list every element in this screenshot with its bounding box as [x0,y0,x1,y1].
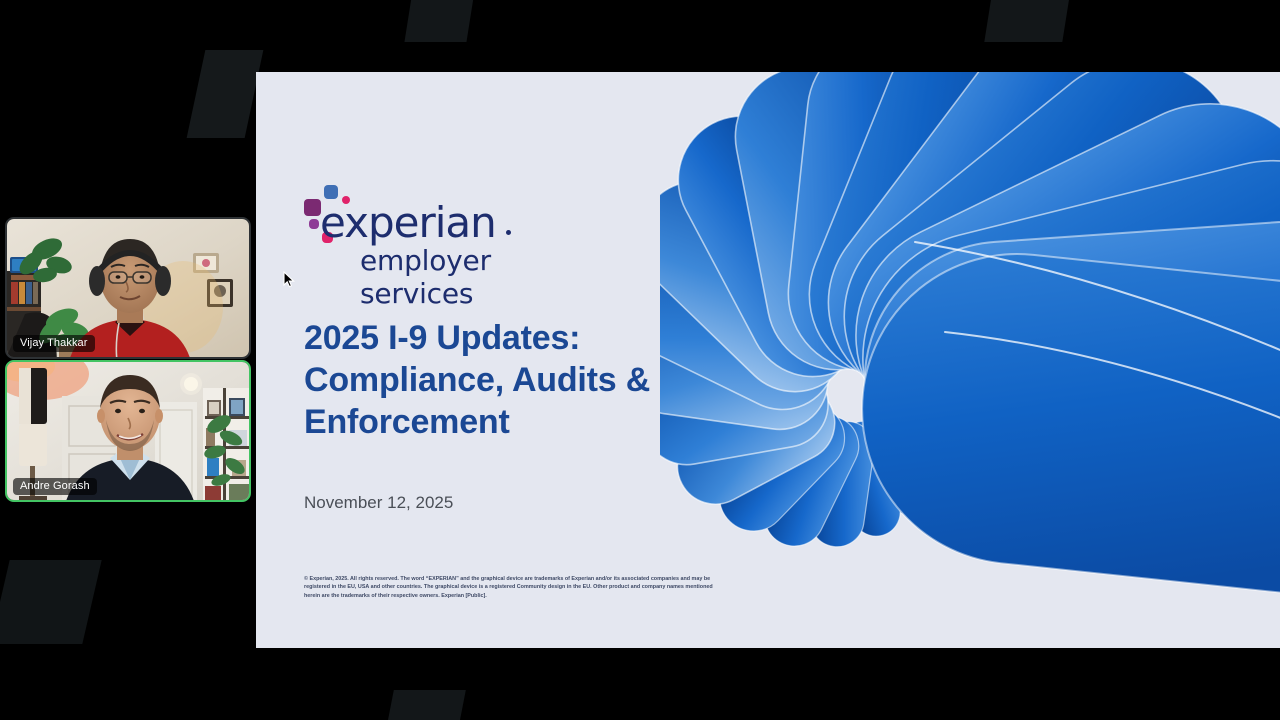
mouse-cursor-icon [283,271,295,288]
experian-wordmark: experian [320,198,496,247]
backdrop-shape [187,50,264,138]
legal-classification: Experian [Public]. [441,593,487,599]
experian-sub-wordmark: employer services [360,244,491,310]
violet-small-square-icon [309,219,319,229]
shared-slide[interactable]: experian employer services 2025 I-9 Upda… [256,72,1280,648]
screen-share-view: experian employer services 2025 I-9 Upda… [0,0,1280,720]
participant-name-label: Vijay Thakkar [13,335,95,352]
experian-brand-spiral-graphic [660,72,1280,648]
backdrop-shape [382,690,466,720]
participant-tile-2[interactable]: Andre Gorash [5,360,251,502]
purple-square-icon [304,199,321,216]
backdrop-shape [0,560,102,644]
legal-copyright-block: © Experian, 2025. All rights reserved. T… [304,575,726,600]
participant-tile-1[interactable]: Vijay Thakkar [5,217,251,359]
blue-square-icon [324,185,338,199]
slide-title: 2025 I-9 Updates: Compliance, Audits & E… [304,318,744,443]
backdrop-shape [404,0,477,42]
slide-date: November 12, 2025 [304,493,453,513]
backdrop-shape [984,0,1073,42]
legal-line-1: © Experian, 2025. All rights reserved. T… [304,576,649,582]
participant-name-label: Andre Gorash [13,478,97,495]
wordmark-period-icon [506,230,511,235]
